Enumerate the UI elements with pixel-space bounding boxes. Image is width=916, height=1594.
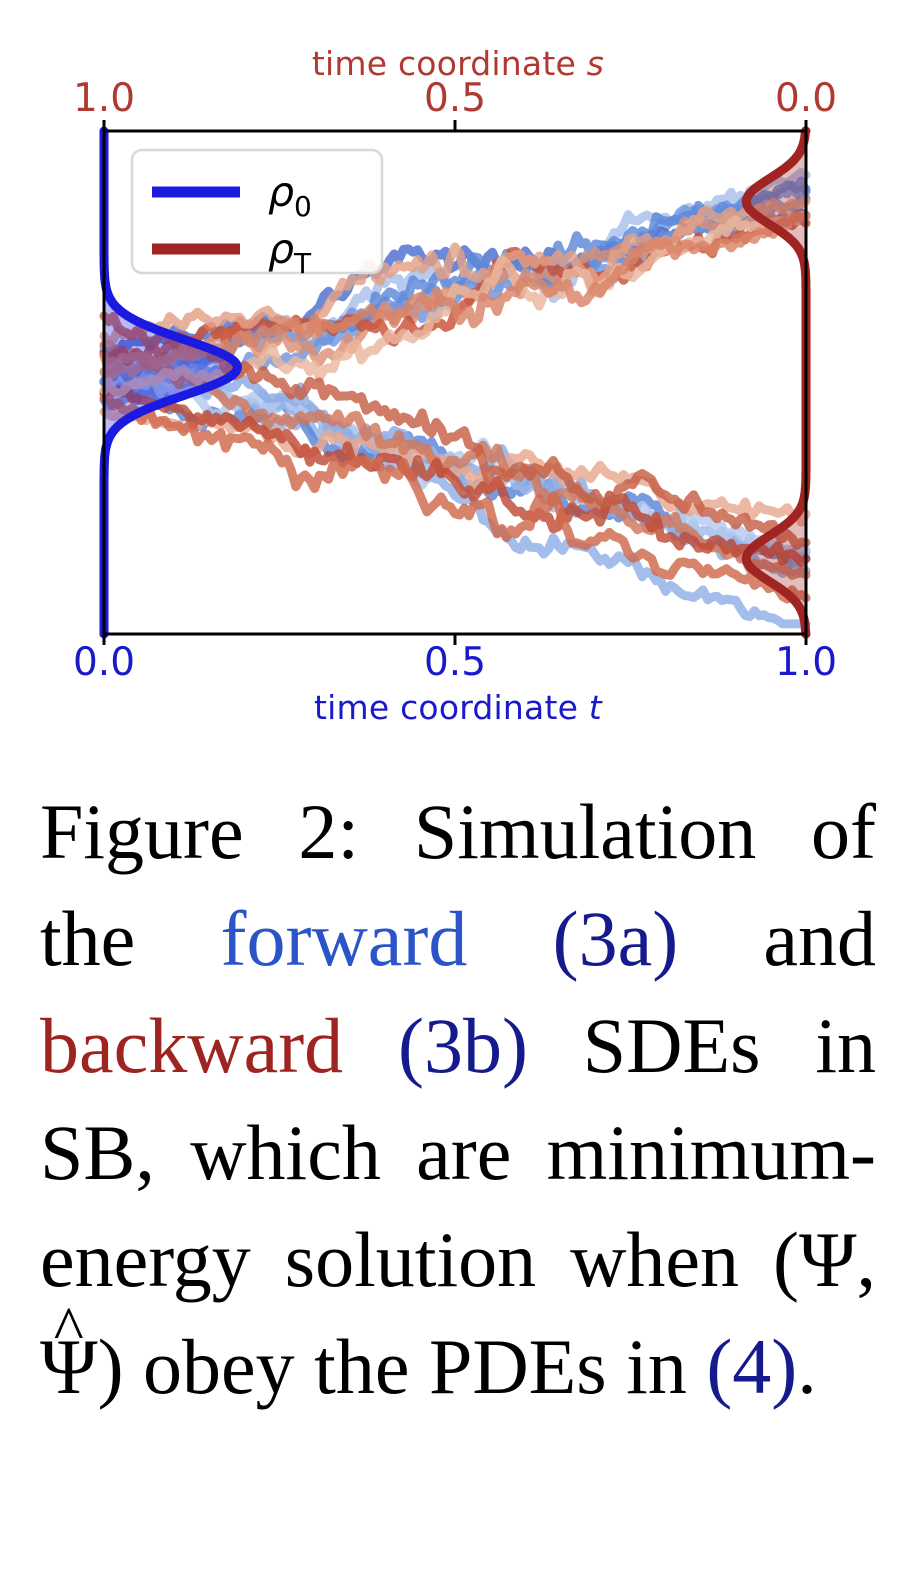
density-fill-rhoT	[746, 131, 806, 634]
caption-backward-term: backward	[40, 1002, 343, 1089]
figure-caption: Figure 2: Simulation of the forward (3a)…	[40, 778, 876, 1420]
psi-hat-symbol: ^Ψ	[40, 1323, 98, 1410]
figure-panel: time coordinate s 1.0 0.5 0.0 0.0 0.5 1.…	[0, 0, 916, 760]
caption-text-5: .	[797, 1323, 817, 1410]
caption-ref-3b[interactable]: (3b)	[398, 1002, 528, 1089]
hat-accent-icon: ^	[54, 1297, 84, 1361]
legend-box	[132, 150, 382, 273]
caption-ref-3a[interactable]: (3a)	[553, 895, 679, 982]
caption-ref-4[interactable]: (4)	[706, 1323, 797, 1410]
caption-text-2: and	[678, 895, 876, 982]
plot-legend: ρ0 ρT	[132, 150, 382, 280]
caption-text-4: ) obey the PDEs in	[98, 1323, 707, 1410]
trajectory-plot: ρ0 ρT	[0, 0, 916, 760]
caption-label: Figure 2:	[40, 788, 359, 875]
caption-forward-term: forward	[221, 895, 468, 982]
